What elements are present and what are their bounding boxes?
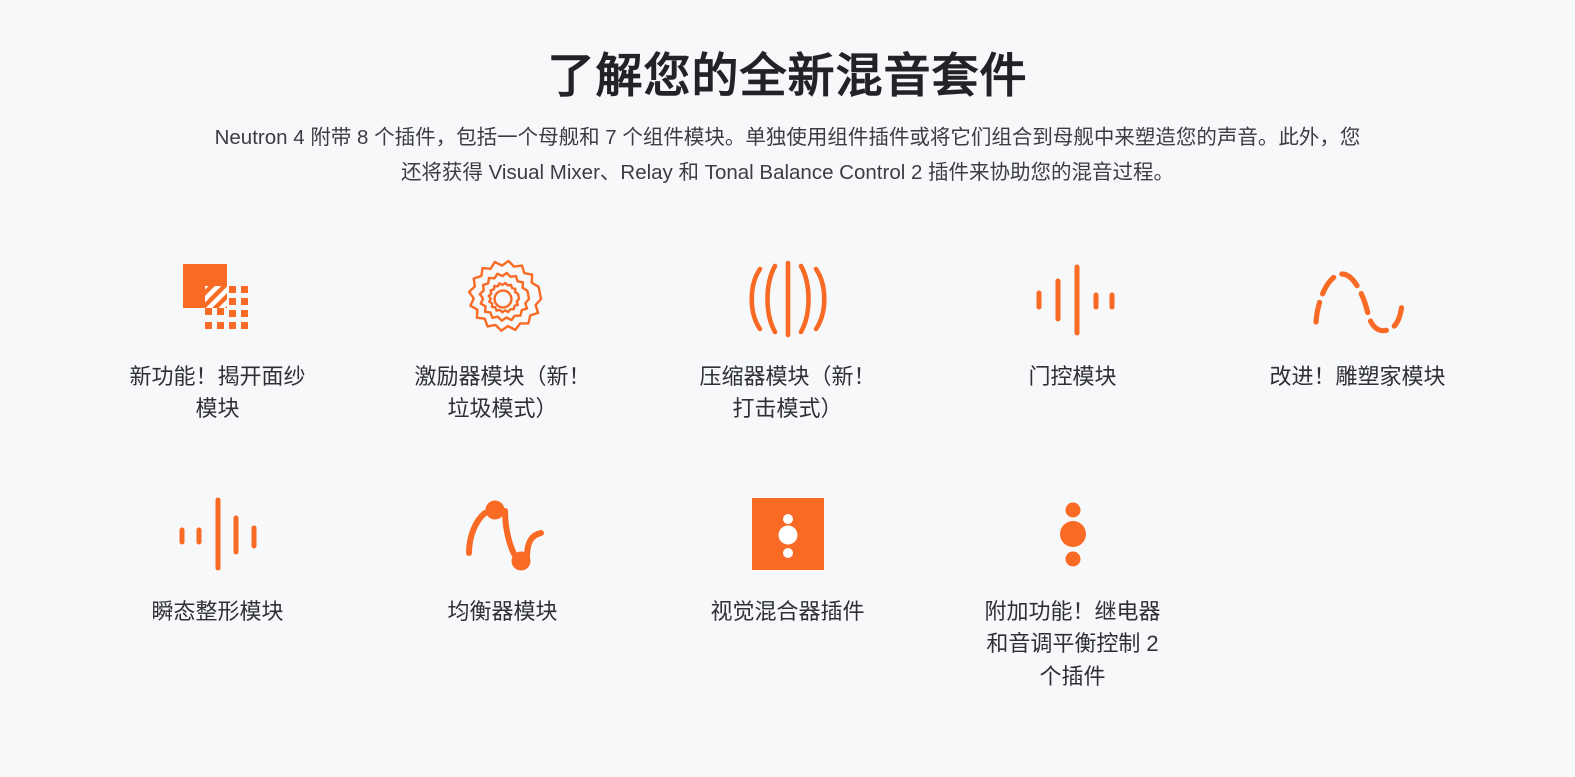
add-ons-plugins-icon [1013,482,1133,586]
neutron-feature-page: 了解您的全新混音套件 Neutron 4 附带 8 个插件，包括一个母舰和 7 … [0,0,1575,777]
module-label: 改进！雕塑家模块 [1233,361,1483,394]
module-label: 瞬态整形模块 [93,596,343,629]
page-subtitle: Neutron 4 附带 8 个插件，包括一个母舰和 7 个组件模块。单独使用组… [213,120,1363,191]
module-label: 视觉混合器插件 [663,596,913,629]
module-card-exciter[interactable]: 激励器模块（新！ 垃圾模式） [360,247,645,426]
module-card-compressor[interactable]: 压缩器模块（新！ 打击模式） [645,247,930,426]
hero-section: 了解您的全新混音套件 Neutron 4 附带 8 个插件，包括一个母舰和 7 … [0,0,1575,191]
module-label: 门控模块 [948,361,1198,394]
module-label: 均衡器模块 [378,596,628,629]
transient-shaper-module-icon [158,482,278,586]
module-label: 激励器模块（新！ 垃圾模式） [378,361,628,426]
module-card-add-ons[interactable]: 附加功能！继电器 和音调平衡控制 2 个插件 [930,482,1215,694]
sculptor-module-icon [1298,247,1418,351]
unmask-module-icon [158,247,278,351]
visual-mixer-plugin-icon [728,482,848,586]
module-card-unmask[interactable]: 新功能！揭开面纱 模块 [75,247,360,426]
module-card-sculptor[interactable]: 改进！雕塑家模块 [1215,247,1500,426]
compressor-module-icon [728,247,848,351]
module-grid-spacer [1215,482,1500,694]
gate-module-icon [1013,247,1133,351]
module-label: 新功能！揭开面纱 模块 [93,361,343,426]
page-title: 了解您的全新混音套件 [0,46,1575,106]
module-card-equalizer[interactable]: 均衡器模块 [360,482,645,694]
module-label: 压缩器模块（新！ 打击模式） [663,361,913,426]
module-grid-row-1: 新功能！揭开面纱 模块 激励器模块（新！ 垃圾模式） [0,247,1575,426]
module-grid-row-2: 瞬态整形模块 均衡器模块 [0,482,1575,694]
exciter-module-icon [443,247,563,351]
module-label: 附加功能！继电器 和音调平衡控制 2 个插件 [948,596,1198,694]
module-card-visual-mixer[interactable]: 视觉混合器插件 [645,482,930,694]
equalizer-module-icon [443,482,563,586]
module-card-gate[interactable]: 门控模块 [930,247,1215,426]
module-card-transient-shaper[interactable]: 瞬态整形模块 [75,482,360,694]
